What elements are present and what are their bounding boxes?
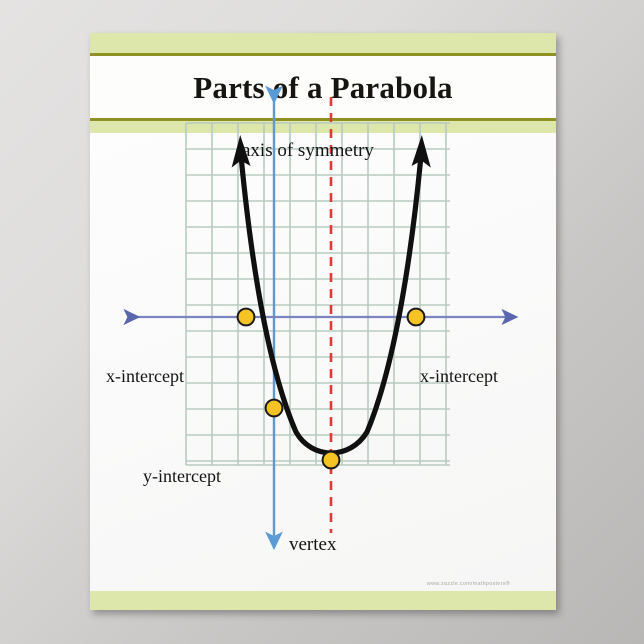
y-intercept-label: y-intercept — [143, 467, 221, 485]
y-intercept-point — [266, 400, 283, 417]
x-intercept-left-point — [238, 309, 255, 326]
watermark: www.zazzle.com/mathposters® — [427, 581, 510, 587]
parabola-diagram — [90, 33, 556, 610]
x-intercept-left-label: x-intercept — [106, 367, 184, 385]
vertex-label: vertex — [289, 535, 336, 554]
x-intercept-right-point — [408, 309, 425, 326]
axis-of-symmetry-label: axis of symmetry — [242, 141, 374, 160]
footer-green-band — [90, 591, 556, 610]
vertex-point — [323, 452, 340, 469]
x-intercept-right-label: x-intercept — [420, 367, 498, 385]
grid-lines — [186, 123, 450, 465]
poster: Parts of a Parabola — [90, 33, 556, 610]
